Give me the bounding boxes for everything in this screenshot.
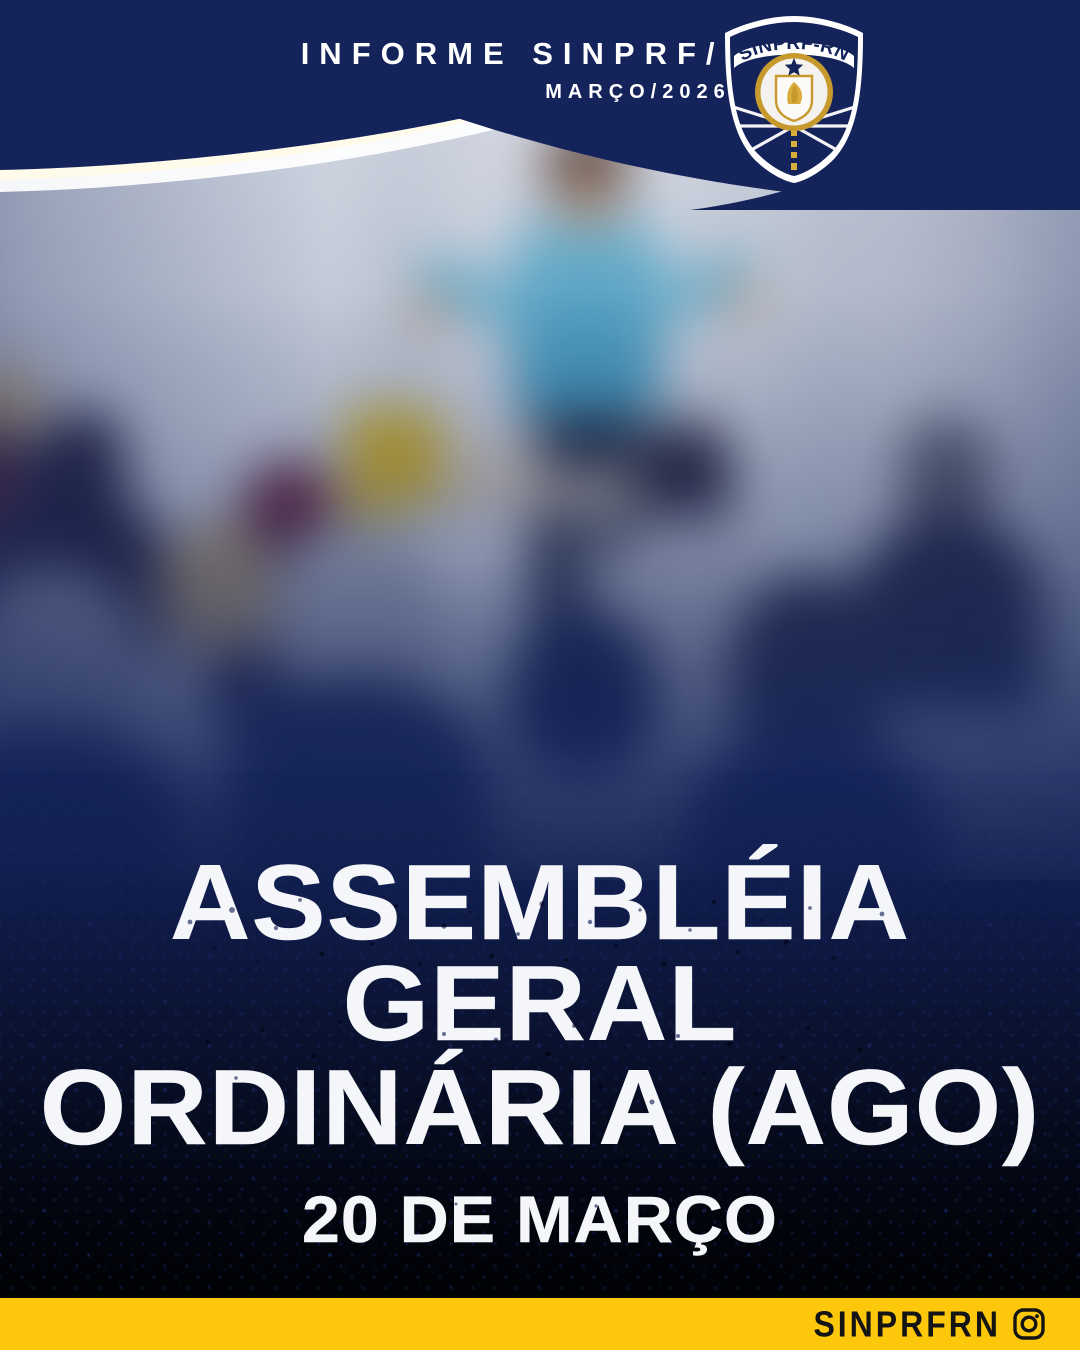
social-handle[interactable]: SINPRFRN <box>813 1303 1001 1344</box>
event-date: 20 DE MARÇO <box>0 1188 1080 1250</box>
title-line-1: ASSEMBLÉIA GERAL <box>0 852 1080 1053</box>
instagram-icon[interactable] <box>1012 1307 1046 1341</box>
footer-bar: SINPRFRN <box>0 1298 1080 1350</box>
header-wave-graphic <box>0 0 1080 210</box>
title-line-2: ORDINÁRIA (AGO) <box>0 1057 1080 1158</box>
main-title-block: ASSEMBLÉIA GERAL ORDINÁRIA (AGO) 20 DE M… <box>0 852 1080 1250</box>
sinprf-rn-logo: SINPRF-RN <box>714 14 874 184</box>
poster-canvas: INFORME SINPRF/RN MARÇO/2026 <box>0 0 1080 1350</box>
navy-wave-join <box>300 0 1080 206</box>
